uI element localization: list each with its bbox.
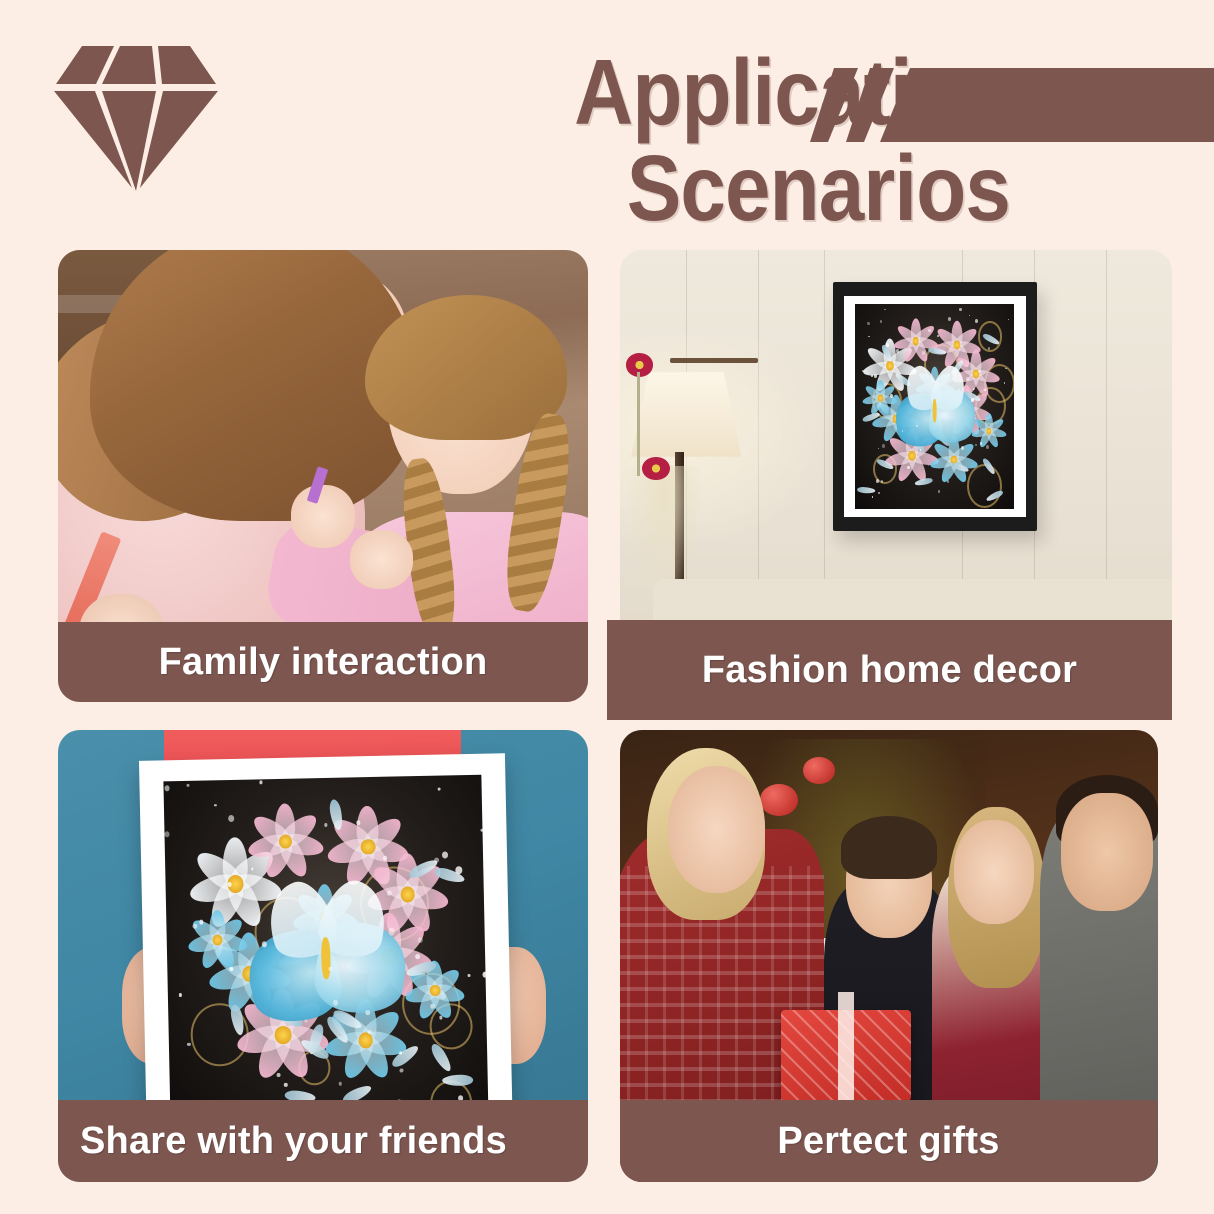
caption-family-interaction: Family interaction (58, 622, 588, 702)
flower-center (912, 337, 919, 346)
flower-center (358, 1033, 373, 1049)
sparkle (399, 1051, 402, 1054)
sparkle (228, 882, 232, 887)
sparkle (387, 890, 392, 895)
sparkle (356, 821, 360, 826)
gift-ribbon (838, 992, 854, 1110)
sparkle (328, 967, 331, 971)
sparkle (388, 928, 395, 936)
caption-text: Share with your friends (80, 1120, 507, 1163)
sparkle (437, 787, 440, 791)
sparkle (324, 823, 327, 827)
sparkle (1008, 319, 1009, 321)
sparkle (975, 444, 976, 446)
page-header: Application Scenarios (0, 0, 1214, 246)
diamond-painting-render (163, 775, 488, 1128)
sparkle (986, 445, 989, 449)
butterfly-body (321, 938, 331, 980)
caption-perfect-gifts: Pertect gifts (620, 1100, 1157, 1182)
caption-text: Family interaction (159, 641, 488, 684)
sparkle (305, 1020, 307, 1023)
sparkle (284, 1083, 288, 1087)
diamond-painting-render (855, 304, 1014, 508)
sparkle (896, 349, 899, 352)
sparkle (277, 1073, 281, 1077)
sparkle (439, 1016, 442, 1020)
sparkle (261, 942, 266, 948)
sparkle (884, 309, 885, 311)
sparkle (874, 374, 877, 378)
sparkle (880, 320, 882, 323)
sparkle (868, 336, 869, 337)
mother-face (668, 766, 765, 893)
sparkle (937, 335, 939, 337)
lamp-arm (670, 358, 758, 363)
sparkle (186, 784, 189, 788)
sparkle (400, 1069, 404, 1073)
sparkle (187, 1043, 191, 1047)
sparkle (872, 496, 874, 498)
sparkle (928, 465, 929, 466)
sparkle (878, 448, 879, 449)
flower-center (278, 834, 292, 849)
sparkle (902, 430, 903, 432)
sparkle (867, 322, 869, 325)
caption-text: Fashion home decor (702, 649, 1077, 692)
red-flower (642, 457, 670, 481)
caption-text: Pertect gifts (777, 1120, 999, 1163)
sparkle (229, 967, 233, 971)
held-artwork (163, 775, 488, 1128)
butterfly-body (932, 398, 937, 423)
sparkle (165, 832, 170, 838)
caption-share-with-friends: Share with your friends (58, 1100, 588, 1182)
ornament-ball (760, 784, 798, 816)
sparkle (988, 347, 990, 350)
sparkle (333, 1000, 338, 1006)
girl-face (954, 820, 1035, 924)
sparkle (467, 974, 470, 977)
sparkle (947, 480, 949, 483)
leaf (327, 799, 343, 832)
girl-hand-lower (350, 530, 414, 589)
sparkle (871, 375, 873, 377)
application-scenarios-page: Application Scenarios (0, 0, 1214, 1214)
flower-center (986, 428, 991, 435)
boy-hair (841, 816, 938, 879)
sparkle (876, 479, 879, 483)
flower-center (361, 839, 376, 855)
sparkle (958, 389, 960, 391)
sparkle (480, 829, 483, 832)
caption-fashion-home-decor: Fashion home decor (607, 620, 1172, 720)
sparkle (959, 308, 961, 311)
picture-frame (833, 282, 1037, 531)
flower-center (275, 1026, 292, 1044)
sparkle (483, 972, 488, 978)
sparkle (434, 857, 439, 862)
sparkle (881, 480, 883, 483)
flower-center (878, 395, 883, 402)
sparkle (928, 329, 931, 332)
sparkle (415, 954, 420, 959)
sparkle (862, 370, 864, 372)
sparkle (969, 315, 970, 317)
sparkle (338, 1082, 341, 1085)
sparkle (259, 781, 263, 785)
sparkle (417, 937, 423, 944)
gold-swirl (967, 464, 1002, 508)
sparkle (916, 425, 917, 427)
sparkle (975, 319, 978, 323)
framed-artwork (855, 304, 1014, 508)
sparkle (178, 993, 182, 997)
sparkle (228, 815, 235, 822)
sparkle (882, 444, 885, 448)
sparkle (938, 490, 940, 492)
girl-hand-upper (291, 485, 355, 548)
sparkle (455, 867, 462, 875)
flower-center (400, 886, 415, 902)
sparkle (214, 804, 217, 807)
sparkle (878, 492, 880, 494)
leaf (857, 486, 876, 493)
page-title-line-2: Scenarios (121, 140, 1010, 236)
lamp-shade (631, 372, 741, 457)
flower-stem (637, 372, 640, 475)
sparkle (441, 852, 448, 859)
father-face (1061, 793, 1152, 911)
sparkle (365, 1010, 370, 1015)
sparkle (164, 786, 169, 792)
sparkle (920, 449, 921, 450)
sparkle (922, 351, 925, 355)
slashes-banner-decoration (810, 62, 1214, 148)
sparkle (948, 317, 951, 321)
held-canvas (139, 753, 513, 1149)
